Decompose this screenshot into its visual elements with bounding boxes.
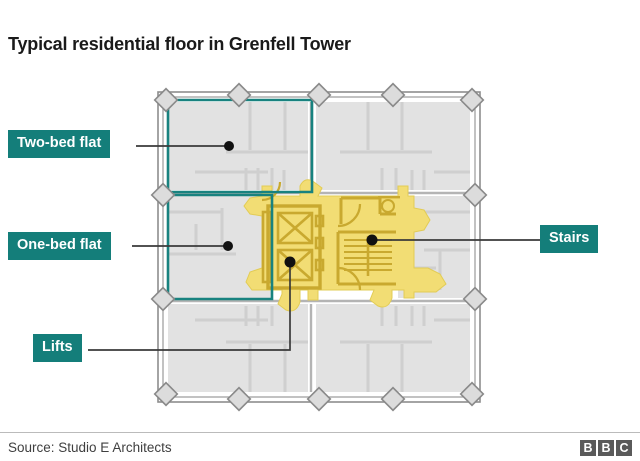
footer-divider (0, 432, 640, 433)
dot-one-bed (223, 241, 233, 251)
callout-lifts[interactable]: Lifts (33, 334, 82, 362)
bbc-logo-letter-2: B (598, 440, 614, 456)
bbc-logo-letter-1: B (580, 440, 596, 456)
dot-lifts (285, 257, 296, 268)
bbc-logo: B B C (580, 440, 632, 456)
infographic-root: Typical residential floor in Grenfell To… (0, 0, 640, 461)
callout-one-bed-flat[interactable]: One-bed flat (8, 232, 111, 260)
callout-stairs[interactable]: Stairs (540, 225, 598, 253)
bbc-logo-letter-3: C (616, 440, 632, 456)
dot-stairs (367, 235, 378, 246)
dot-two-bed (224, 141, 234, 151)
source-attribution: Source: Studio E Architects (8, 440, 172, 455)
callout-two-bed-flat[interactable]: Two-bed flat (8, 130, 110, 158)
